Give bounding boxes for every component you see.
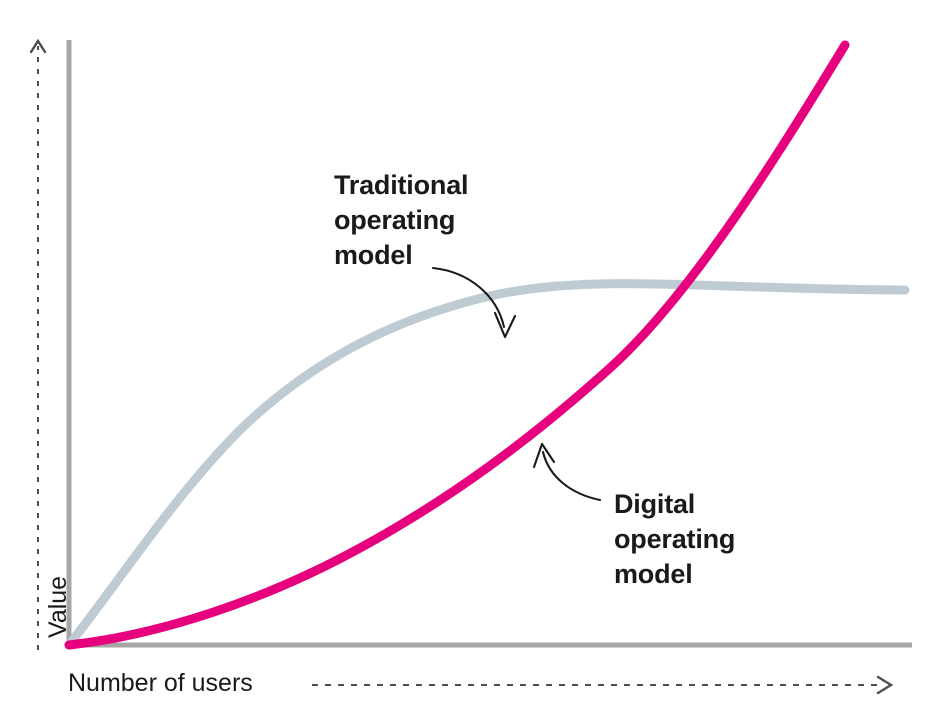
x-axis-direction-guide: [312, 677, 891, 693]
x-axis-title: Number of users: [68, 669, 253, 698]
y-axis-title: Value: [44, 576, 73, 638]
chart-canvas: Traditional operating model Digital oper…: [0, 0, 946, 720]
annotation-digital-line-1: Digital: [614, 487, 735, 522]
annotation-digital-line-2: operating: [614, 522, 735, 557]
callout-arrow-digital: [534, 444, 600, 500]
annotation-label-traditional-operating-model: Traditional operating model: [334, 168, 468, 273]
annotation-label-digital-operating-model: Digital operating model: [614, 487, 735, 592]
y-axis-direction-guide: [31, 41, 45, 650]
x-axis-arrowhead-icon: [878, 677, 891, 693]
callout-arrow-traditional-head-icon: [495, 313, 515, 337]
annotation-digital-line-3: model: [614, 557, 735, 592]
annotation-traditional-line-1: Traditional: [334, 168, 468, 203]
annotation-traditional-line-2: operating: [334, 203, 468, 238]
annotation-traditional-line-3: model: [334, 238, 468, 273]
chart-plot-area: [0, 0, 946, 720]
